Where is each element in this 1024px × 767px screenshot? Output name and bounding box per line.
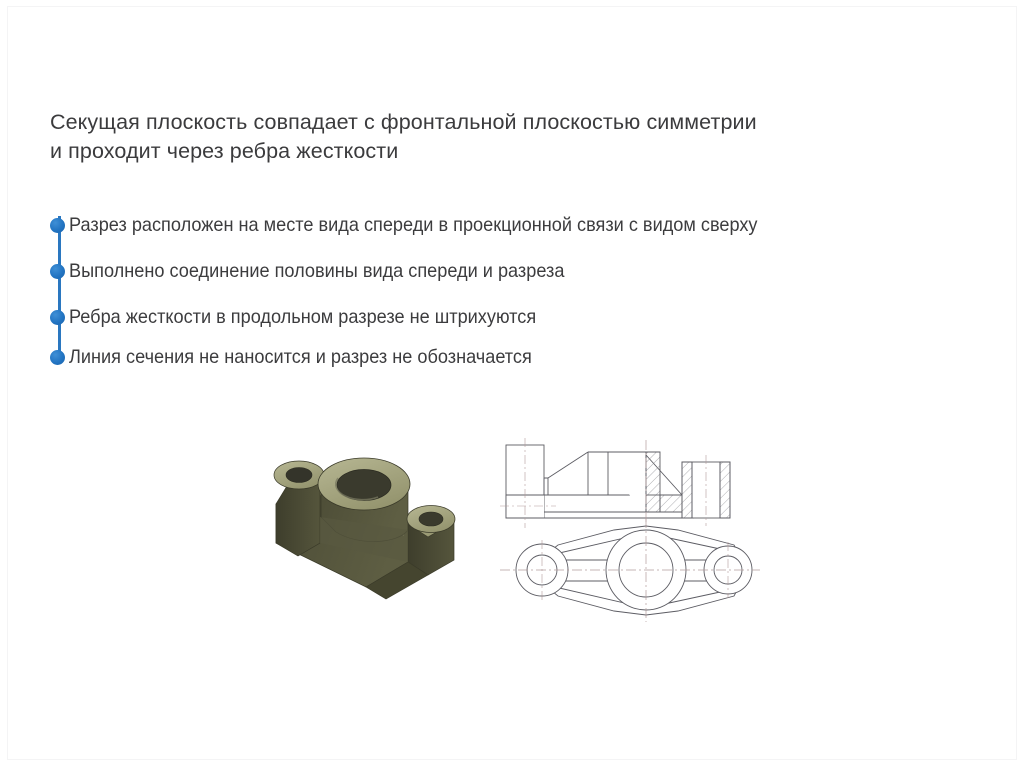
- page-title: Секущая плоскость совпадает с фронтально…: [50, 108, 950, 166]
- list-item-label: Выполнено соединение половины вида спере…: [69, 260, 896, 283]
- bullet-dot-icon: [50, 350, 65, 365]
- list-item-label: Разрез расположен на месте вида спереди …: [69, 214, 896, 237]
- list-item[interactable]: Выполнено соединение половины вида спере…: [48, 248, 958, 294]
- part-3d-model-image: [258, 412, 478, 607]
- list-item[interactable]: Разрез расположен на месте вида спереди …: [48, 202, 958, 248]
- technical-drawing-image: [496, 400, 766, 625]
- slide-canvas: Секущая плоскость совпадает с фронтально…: [0, 0, 1024, 767]
- list-item[interactable]: Линия сечения не наносится и разрез не о…: [48, 340, 958, 374]
- bullet-list: Разрез расположен на месте вида спереди …: [48, 202, 958, 374]
- bullet-dot-icon: [50, 310, 65, 325]
- list-item-label: Линия сечения не наносится и разрез не о…: [69, 346, 896, 369]
- bullet-dot-icon: [50, 218, 65, 233]
- list-item-label: Ребра жесткости в продольном разрезе не …: [69, 306, 896, 329]
- list-item[interactable]: Ребра жесткости в продольном разрезе не …: [48, 294, 958, 340]
- bullet-dot-icon: [50, 264, 65, 279]
